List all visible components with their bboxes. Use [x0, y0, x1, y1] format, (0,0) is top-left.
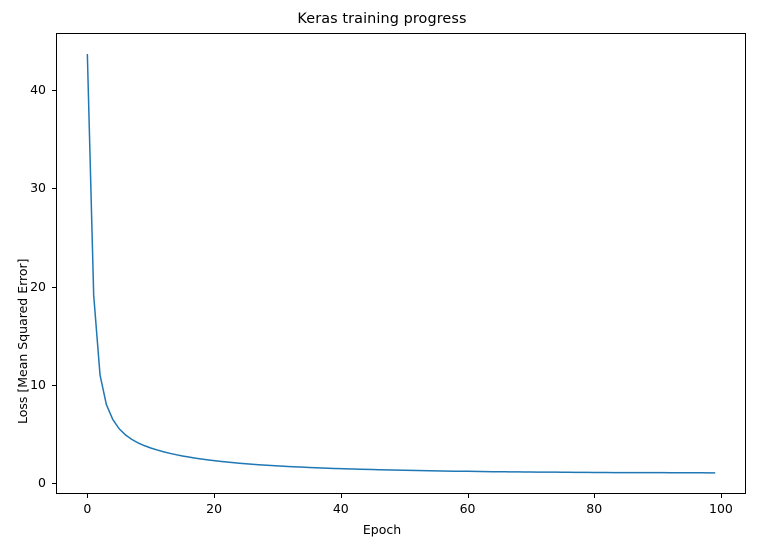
y-tick-mark — [52, 90, 56, 91]
x-tick-label: 60 — [438, 501, 498, 516]
y-tick-label: 40 — [6, 82, 46, 97]
x-tick-mark — [594, 494, 595, 498]
y-tick-mark — [52, 483, 56, 484]
y-axis-label: Loss [Mean Squared Error] — [15, 258, 30, 424]
loss-line-series — [87, 55, 714, 473]
x-tick-mark — [468, 494, 469, 498]
y-tick-mark — [52, 385, 56, 386]
x-tick-label: 80 — [564, 501, 624, 516]
x-tick-mark — [87, 494, 88, 498]
x-tick-mark — [341, 494, 342, 498]
x-tick-label: 20 — [184, 501, 244, 516]
y-tick-label: 0 — [6, 475, 46, 490]
y-tick-mark — [52, 188, 56, 189]
x-axis-label: Epoch — [0, 522, 764, 537]
x-tick-mark — [721, 494, 722, 498]
x-tick-label: 100 — [691, 501, 751, 516]
y-tick-mark — [52, 287, 56, 288]
y-tick-label: 30 — [6, 180, 46, 195]
x-tick-label: 0 — [57, 501, 117, 516]
x-tick-label: 40 — [311, 501, 371, 516]
x-tick-mark — [214, 494, 215, 498]
matplotlib-figure: Keras training progress 020406080100 010… — [0, 0, 764, 547]
loss-curve-plot — [56, 33, 746, 494]
chart-title: Keras training progress — [0, 11, 764, 27]
